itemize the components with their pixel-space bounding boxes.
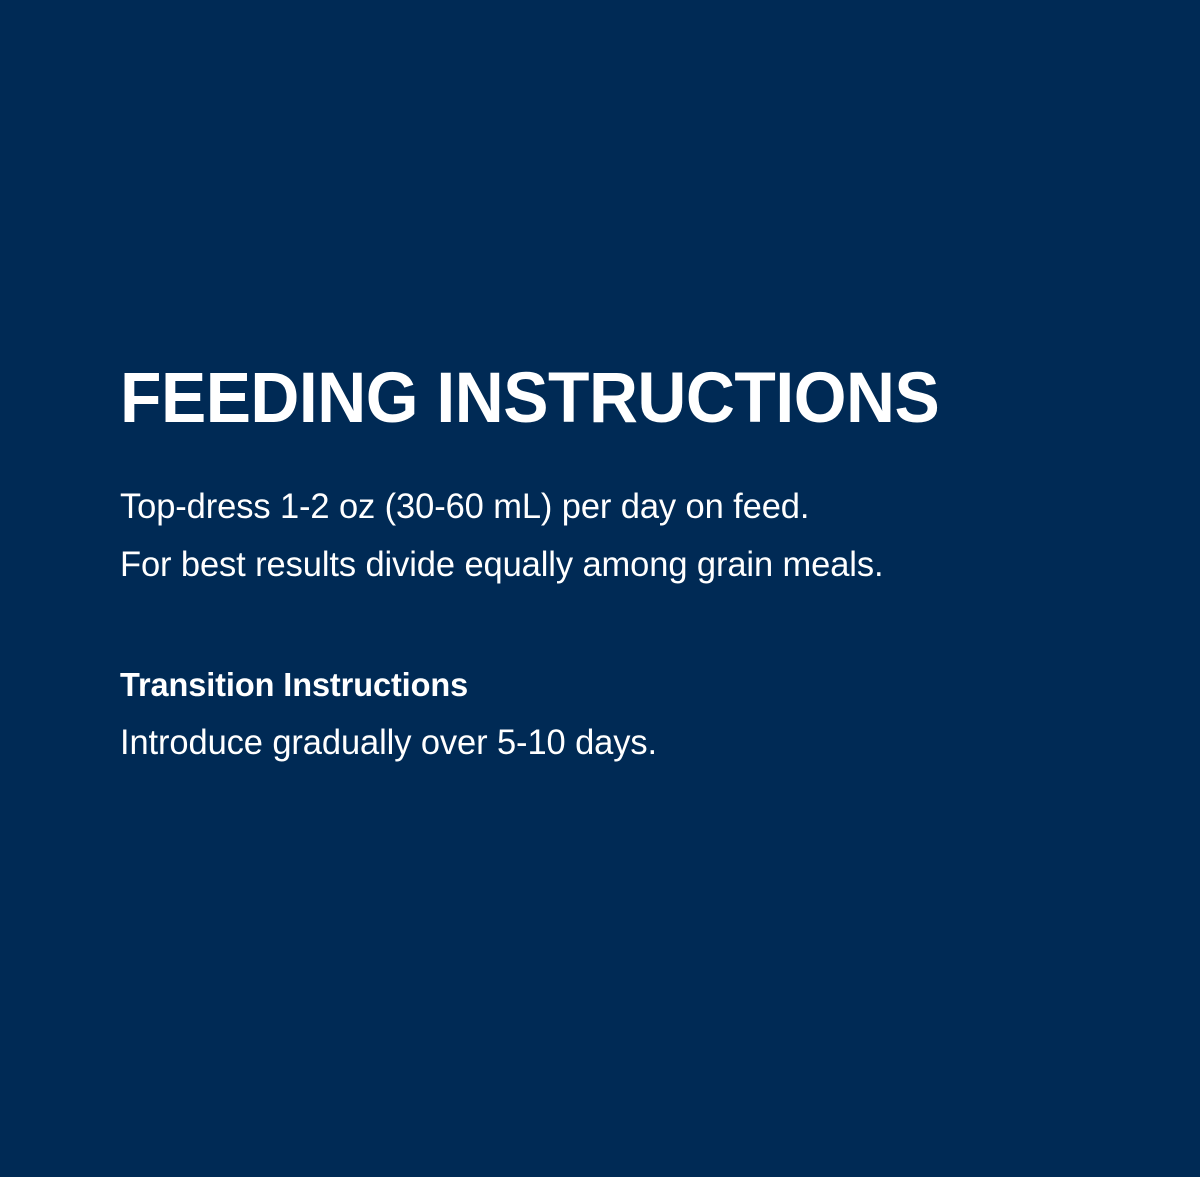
panel-content: FEEDING INSTRUCTIONS Top-dress 1-2 oz (3… <box>120 363 1140 772</box>
transition-line-introduce: Introduce gradually over 5-10 days. <box>120 714 1125 772</box>
page-title: FEEDING INSTRUCTIONS <box>120 363 1094 434</box>
transition-instructions-heading: Transition Instructions <box>120 656 1125 714</box>
feeding-instructions-panel: FEEDING INSTRUCTIONS Top-dress 1-2 oz (3… <box>0 0 1200 1177</box>
feeding-line-dosage: Top-dress 1-2 oz (30-60 mL) per day on f… <box>120 478 1125 536</box>
feeding-instructions-block: Top-dress 1-2 oz (30-60 mL) per day on f… <box>120 478 1140 594</box>
section-spacer <box>120 594 1140 656</box>
transition-instructions-block: Transition Instructions Introduce gradua… <box>120 656 1140 772</box>
feeding-line-best-results: For best results divide equally among gr… <box>120 536 1125 594</box>
